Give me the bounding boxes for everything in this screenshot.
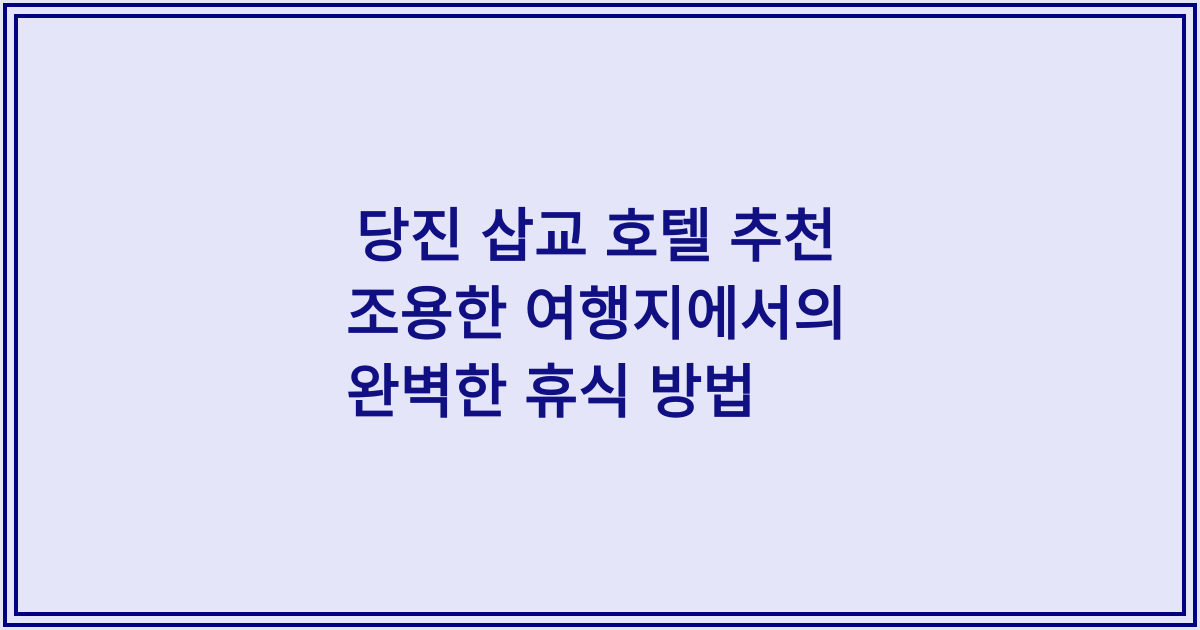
title-line-1: 당진 삽교 호텔 추천 (356, 198, 847, 276)
thumbnail-canvas: 당진 삽교 호텔 추천 조용한 여행지에서의 완벽한 휴식 방법 (0, 0, 1200, 630)
title-line-2: 조용한 여행지에서의 (346, 276, 847, 354)
title-line-3: 완벽한 휴식 방법 (346, 354, 847, 432)
title-text-stack: 당진 삽교 호텔 추천 조용한 여행지에서의 완벽한 휴식 방법 (356, 198, 847, 432)
title-block: 당진 삽교 호텔 추천 조용한 여행지에서의 완벽한 휴식 방법 (0, 0, 1200, 630)
